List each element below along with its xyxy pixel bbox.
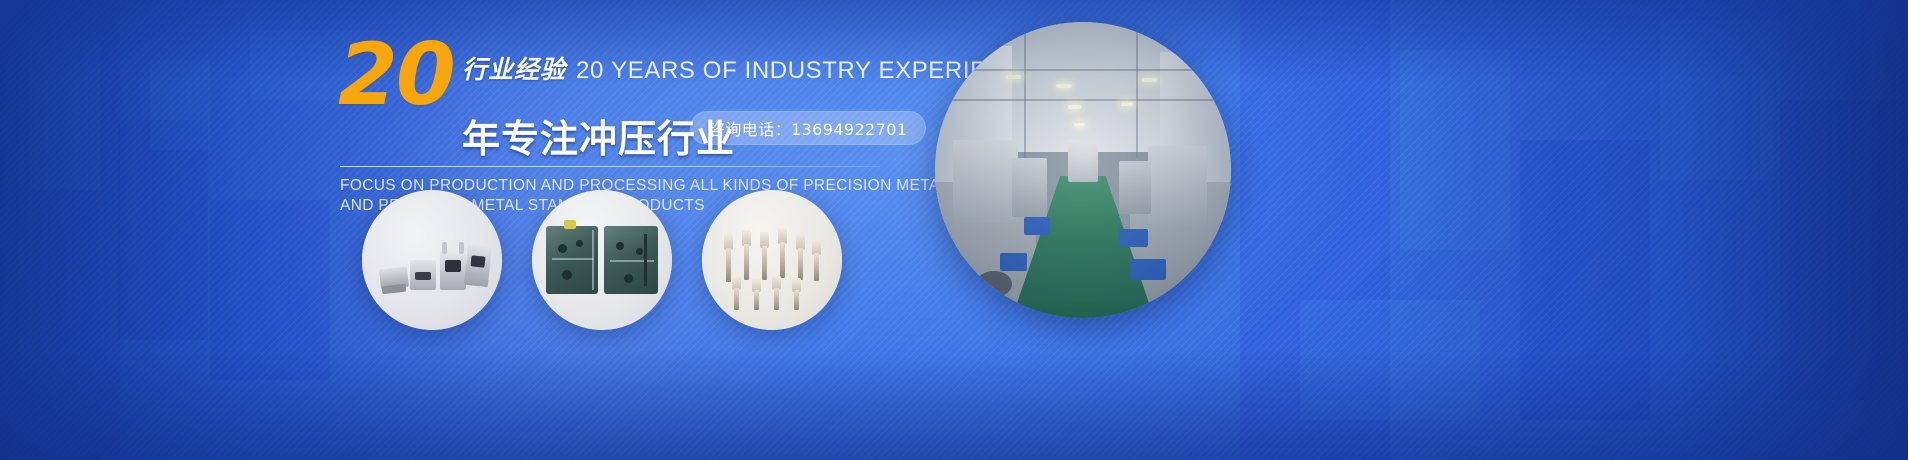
years-number: 20 [338,32,454,118]
product-circle-pins[interactable] [702,190,842,330]
product-circle-connectors[interactable] [362,190,502,330]
phone-badge-label: 咨询电话：13694922701 [709,116,907,140]
promo-banner: 20 行业经验20 YEARS OF INDUSTRY EXPERIENCE 年… [0,0,1908,460]
factory-photo-circle[interactable] [935,22,1231,318]
headline-cn-small: 行业经验 [462,55,566,84]
phone-badge[interactable]: 咨询电话：13694922701 [690,111,926,145]
product-circle-mold[interactable] [532,190,672,330]
divider [340,166,880,167]
